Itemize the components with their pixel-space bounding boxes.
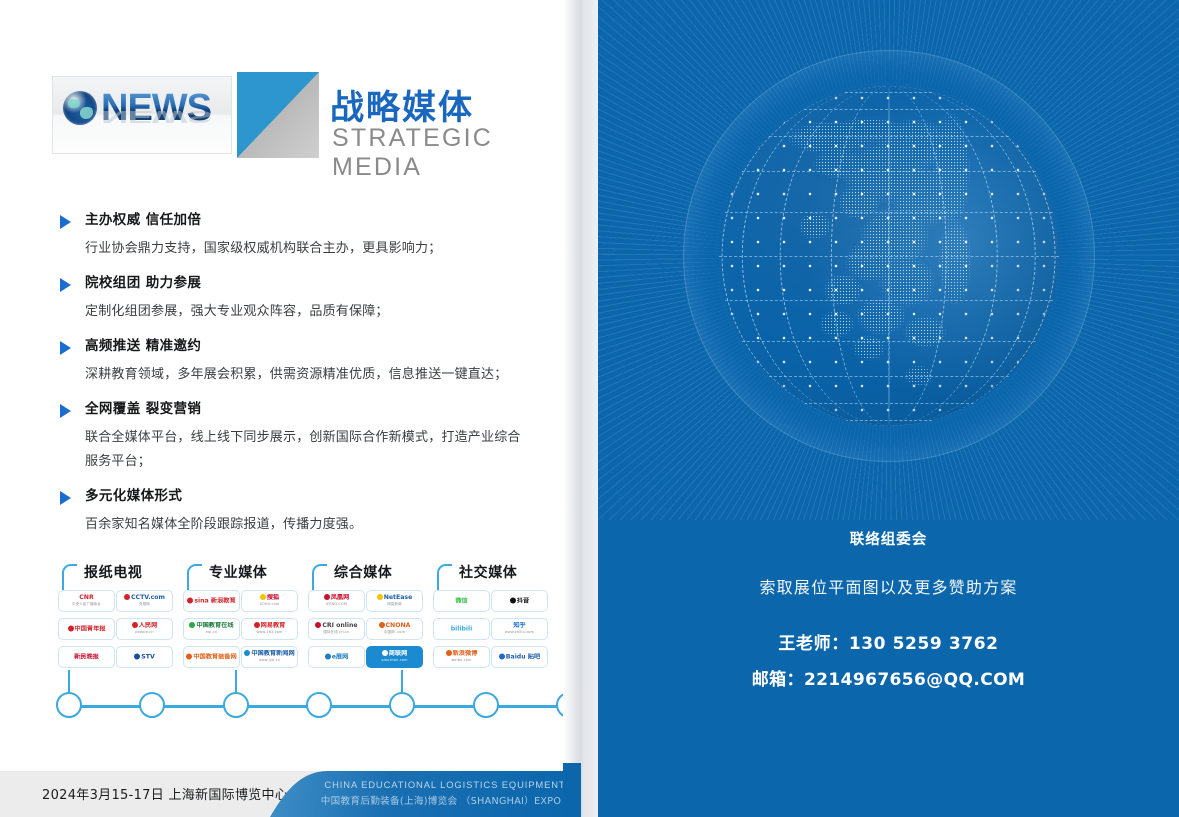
page-gutter bbox=[563, 0, 599, 817]
media-column-heading: 报纸电视 bbox=[84, 562, 142, 582]
media-column-professional: 专业媒体 sina 新浪教育搜狐SOHU.com中国教育在线eol.cn网易教育… bbox=[181, 558, 306, 588]
footer-bar: 2024年3月15-17日 上海新国际博览中心 CHINA EDUCATIONA… bbox=[0, 771, 580, 817]
page-title: 战略媒体 bbox=[330, 80, 474, 129]
media-logo-cell[interactable]: NetEase网易新闻 bbox=[366, 590, 423, 612]
media-logo-label: 商联网qianzhan.com bbox=[367, 650, 422, 664]
media-logo-label: 抖音 bbox=[492, 598, 547, 605]
media-logo-label: CRI online国际在线 cri.cn bbox=[309, 622, 364, 636]
logo-grid: CNR中央人民广播电台CCTV.com央视网中国青年报人民网people.cn新… bbox=[58, 590, 179, 674]
footer-expo-name-en: CHINA EDUCATIONAL LOGISTICS EQUIPMENT bbox=[320, 779, 570, 790]
contact-subtitle: 索取展位平面图以及更多赞助方案 bbox=[598, 574, 1179, 598]
list-item-desc: 行业协会鼎力支持，国家级权威机构联合主办，更具影响力； bbox=[85, 237, 530, 261]
list-item-desc: 联合全媒体平台，线上线下同步展示，创新国际合作新模式，打造产业综合服务平台； bbox=[85, 426, 530, 474]
arrow-right-icon bbox=[60, 341, 71, 355]
globe-sphere bbox=[719, 86, 1059, 426]
timeline-node bbox=[389, 692, 415, 718]
media-logo-cell[interactable]: 知乎www.zhihu.com bbox=[491, 618, 548, 640]
media-column-social: 社交媒体 微信抖音bilibili知乎www.zhihu.com新浪微博weib… bbox=[431, 558, 556, 588]
media-logo-cell[interactable]: 网易教育www.163.com bbox=[241, 618, 298, 640]
news-logo-plate: NEWS NEWS bbox=[52, 76, 232, 154]
bracket-icon bbox=[187, 564, 202, 590]
media-logo-cell[interactable]: sina 新浪教育 bbox=[183, 590, 240, 612]
media-logo-label: CCTV.com央视网 bbox=[117, 594, 172, 608]
media-logo-cell[interactable]: 微信 bbox=[433, 590, 490, 612]
media-logo-cell[interactable]: 中国教育装备网 bbox=[183, 646, 240, 668]
timeline-stem bbox=[68, 670, 70, 692]
media-logo-cell[interactable]: STV bbox=[116, 646, 173, 668]
media-logo-label: Baidu 贴吧 bbox=[492, 654, 547, 661]
list-item: 主办权威 信任加倍 行业协会鼎力支持，国家级权威机构联合主办，更具影响力； bbox=[60, 212, 530, 261]
page-gutter-lower-fill bbox=[563, 763, 581, 817]
media-logo-label: 新民晚报 bbox=[59, 654, 114, 661]
media-logo-cell[interactable]: 搜狐SOHU.com bbox=[241, 590, 298, 612]
contact-block: 联络组委会 索取展位平面图以及更多赞助方案 王老师：130 5259 3762 … bbox=[598, 528, 1179, 690]
timeline-node bbox=[223, 692, 249, 718]
list-item-desc: 深耕教育领域，多年展会积累，供需资源精准优质，信息推送一键直达； bbox=[85, 363, 530, 387]
media-logo-label: bilibili bbox=[434, 626, 489, 633]
media-logo-cell[interactable]: 人民网people.cn bbox=[116, 618, 173, 640]
media-logo-label: 知乎www.zhihu.com bbox=[492, 622, 547, 636]
arrow-right-icon bbox=[60, 491, 71, 505]
benefits-list: 主办权威 信任加倍 行业协会鼎力支持，国家级权威机构联合主办，更具影响力； 院校… bbox=[60, 212, 530, 551]
media-logo-cell[interactable]: 商联网qianzhan.com bbox=[366, 646, 423, 668]
list-item: 院校组团 助力参展 定制化组团参展，强大专业观众阵容，品质有保障； bbox=[60, 275, 530, 324]
longitude-line bbox=[721, 86, 1056, 426]
media-logo-label: 新浪微博weibo.com bbox=[434, 650, 489, 664]
media-logo-label: 人民网people.cn bbox=[117, 622, 172, 636]
media-logo-label: 中国教育在线eol.cn bbox=[184, 622, 239, 636]
logo-grid: 微信抖音bilibili知乎www.zhihu.com新浪微博weibo.com… bbox=[433, 590, 554, 674]
timeline-node bbox=[56, 692, 82, 718]
media-logo-cell[interactable]: 中国教育在线eol.cn bbox=[183, 618, 240, 640]
media-logo-label: e展网 bbox=[309, 654, 364, 661]
media-logo-cell[interactable]: CNR中央人民广播电台 bbox=[58, 590, 115, 612]
list-item: 高频推送 精准邀约 深耕教育领域，多年展会积累，供需资源精准优质，信息推送一键直… bbox=[60, 338, 530, 387]
triangle-accent-block bbox=[237, 72, 319, 158]
media-logo-label: 中国教育新闻网www.jyb.cn bbox=[242, 650, 297, 664]
media-logo-cell[interactable]: Baidu 贴吧 bbox=[491, 646, 548, 668]
bracket-icon bbox=[312, 564, 327, 590]
contact-title: 联络组委会 bbox=[598, 528, 1179, 549]
media-logo-label: CNR中央人民广播电台 bbox=[59, 594, 114, 608]
list-item: 多元化媒体形式 百余家知名媒体全阶段跟踪报道，传播力度强。 bbox=[60, 488, 530, 537]
media-logo-label: 网易教育www.163.com bbox=[242, 622, 297, 636]
logo-grid: sina 新浪教育搜狐SOHU.com中国教育在线eol.cn网易教育www.1… bbox=[183, 590, 304, 674]
media-logo-cell[interactable]: CNONA中国网 .com bbox=[366, 618, 423, 640]
media-logo-label: 中国教育装备网 bbox=[184, 654, 239, 661]
media-logo-label: CNONA中国网 .com bbox=[367, 622, 422, 636]
media-logo-label: sina 新浪教育 bbox=[184, 598, 239, 605]
timeline-decoration bbox=[56, 692, 576, 720]
left-brochure-page: NEWS NEWS 战略媒体 STRATEGIC MEDIA 主办权威 信任加倍… bbox=[0, 0, 580, 817]
contact-phone[interactable]: 王老师：130 5259 3762 bbox=[598, 629, 1179, 654]
media-logo-cell[interactable]: 新民晚报 bbox=[58, 646, 115, 668]
media-logo-cell[interactable]: 凤凰网IFENG.COM bbox=[308, 590, 365, 612]
list-item-title: 主办权威 信任加倍 bbox=[85, 212, 530, 229]
media-logo-cell[interactable]: 中国教育新闻网www.jyb.cn bbox=[241, 646, 298, 668]
page-subtitle: STRATEGIC MEDIA bbox=[332, 124, 522, 182]
arrow-right-icon bbox=[60, 215, 71, 229]
media-logo-label: STV bbox=[117, 654, 172, 661]
logo-grid: 凤凰网IFENG.COMNetEase网易新闻CRI online国际在线 cr… bbox=[308, 590, 429, 674]
masthead: NEWS NEWS 战略媒体 STRATEGIC MEDIA bbox=[52, 72, 522, 156]
list-item-title: 院校组团 助力参展 bbox=[85, 275, 530, 292]
list-item-title: 全网覆盖 裂变营销 bbox=[85, 401, 530, 418]
timeline-node bbox=[306, 692, 332, 718]
media-logo-cell[interactable]: 中国青年报 bbox=[58, 618, 115, 640]
media-partner-grid: 报纸电视 CNR中央人民广播电台CCTV.com央视网中国青年报人民网peopl… bbox=[56, 558, 556, 708]
bracket-icon bbox=[437, 564, 452, 590]
media-logo-label: 搜狐SOHU.com bbox=[242, 594, 297, 608]
media-column-heading: 综合媒体 bbox=[334, 562, 392, 582]
timeline-node bbox=[473, 692, 499, 718]
timeline-stem bbox=[235, 670, 237, 692]
news-wordmark-reflection: NEWS bbox=[101, 108, 211, 125]
timeline-stem bbox=[401, 670, 403, 692]
list-item-title: 多元化媒体形式 bbox=[85, 488, 530, 505]
brochure-page: NEWS NEWS 战略媒体 STRATEGIC MEDIA 主办权威 信任加倍… bbox=[0, 0, 1179, 817]
media-logo-cell[interactable]: 新浪微博weibo.com bbox=[433, 646, 490, 668]
media-column-heading: 专业媒体 bbox=[209, 562, 267, 582]
list-item-desc: 定制化组团参展，强大专业观众阵容，品质有保障； bbox=[85, 300, 530, 324]
globe-icon bbox=[63, 91, 97, 125]
media-logo-label: 中国青年报 bbox=[59, 626, 114, 633]
media-logo-cell[interactable]: bilibili bbox=[433, 618, 490, 640]
media-logo-label: 凤凰网IFENG.COM bbox=[309, 594, 364, 608]
media-logo-cell[interactable]: CCTV.com央视网 bbox=[116, 590, 173, 612]
media-column-header: 专业媒体 bbox=[181, 558, 306, 588]
media-column-general: 综合媒体 凤凰网IFENG.COMNetEase网易新闻CRI online国际… bbox=[306, 558, 431, 588]
footer-date-venue: 2024年3月15-17日 上海新国际博览中心 bbox=[42, 784, 288, 803]
media-column-header: 报纸电视 bbox=[56, 558, 181, 588]
arrow-right-icon bbox=[60, 404, 71, 418]
media-logo-label: NetEase网易新闻 bbox=[367, 594, 422, 608]
media-logo-cell[interactable]: e展网 bbox=[308, 646, 365, 668]
arrow-right-icon bbox=[60, 278, 71, 292]
contact-email[interactable]: 邮箱：2214967656@QQ.COM bbox=[598, 665, 1179, 690]
globe-wireframe-graphic bbox=[598, 0, 1179, 520]
media-logo-cell[interactable]: CRI online国际在线 cri.cn bbox=[308, 618, 365, 640]
list-item-title: 高频推送 精准邀约 bbox=[85, 338, 530, 355]
media-column-header: 综合媒体 bbox=[306, 558, 431, 588]
media-logo-label: 微信 bbox=[434, 598, 489, 605]
footer-expo-name-cn: 中国教育后勤装备(上海)博览会 （SHANGHAI）EXPO bbox=[310, 793, 572, 807]
list-item: 全网覆盖 裂变营销 联合全媒体平台，线上线下同步展示，创新国际合作新模式，打造产… bbox=[60, 401, 530, 474]
media-logo-cell[interactable]: 抖音 bbox=[491, 590, 548, 612]
timeline-node bbox=[139, 692, 165, 718]
media-column-newspaper-tv: 报纸电视 CNR中央人民广播电台CCTV.com央视网中国青年报人民网peopl… bbox=[56, 558, 181, 588]
right-brochure-page: 联络组委会 索取展位平面图以及更多赞助方案 王老师：130 5259 3762 … bbox=[598, 0, 1179, 817]
list-item-desc: 百余家知名媒体全阶段跟踪报道，传播力度强。 bbox=[85, 513, 530, 537]
media-column-header: 社交媒体 bbox=[431, 558, 556, 588]
media-column-heading: 社交媒体 bbox=[459, 562, 517, 582]
bracket-icon bbox=[62, 564, 77, 590]
